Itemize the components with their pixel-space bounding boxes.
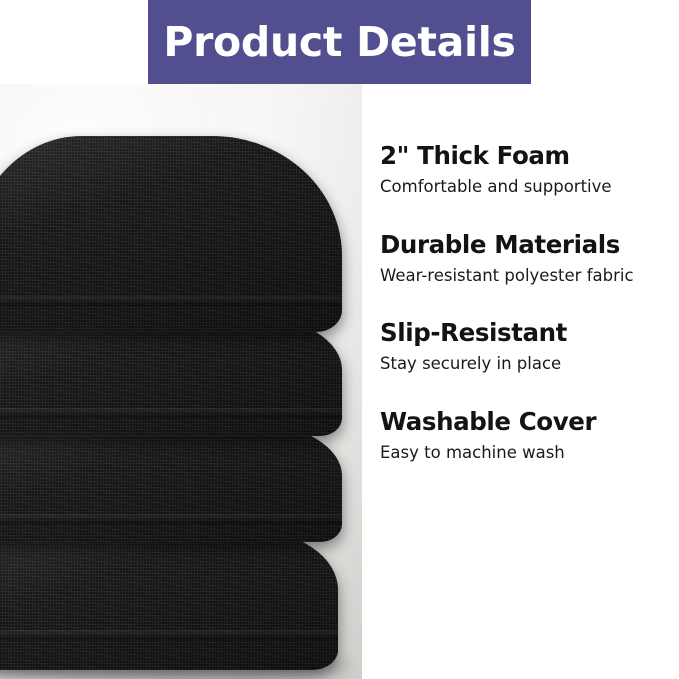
- page-title: Product Details: [163, 22, 515, 63]
- cushion-sheen: [0, 424, 342, 542]
- product-photo: [0, 84, 362, 679]
- cushion-top: [0, 136, 342, 332]
- cushion-second: [0, 316, 342, 436]
- cushion-third: [0, 424, 342, 542]
- product-details-infographic: Product Details 2" Thick Foam Comf: [0, 0, 679, 679]
- feature-title: Durable Materials: [380, 231, 669, 259]
- feature-title: Washable Cover: [380, 408, 669, 436]
- feature-title: Slip-Resistant: [380, 319, 669, 347]
- feature-list: 2" Thick Foam Comfortable and supportive…: [362, 84, 679, 679]
- feature-description: Wear-resistant polyester fabric: [380, 265, 669, 286]
- feature-item-durable-materials: Durable Materials Wear-resistant polyest…: [380, 231, 669, 287]
- feature-title: 2" Thick Foam: [380, 142, 669, 170]
- feature-description: Easy to machine wash: [380, 442, 669, 463]
- feature-item-slip-resistant: Slip-Resistant Stay securely in place: [380, 319, 669, 375]
- cushion-sheen: [0, 316, 342, 436]
- feature-item-thick-foam: 2" Thick Foam Comfortable and supportive: [380, 142, 669, 198]
- cushion-sheen: [0, 530, 338, 670]
- feature-description: Stay securely in place: [380, 353, 669, 374]
- cushion-bottom: [0, 530, 338, 670]
- header-banner: Product Details: [0, 0, 679, 84]
- banner-corner-right: [531, 0, 679, 84]
- feature-description: Comfortable and supportive: [380, 176, 669, 197]
- banner-corner-left: [0, 0, 148, 84]
- cushion-sheen: [0, 136, 342, 332]
- feature-item-washable-cover: Washable Cover Easy to machine wash: [380, 408, 669, 464]
